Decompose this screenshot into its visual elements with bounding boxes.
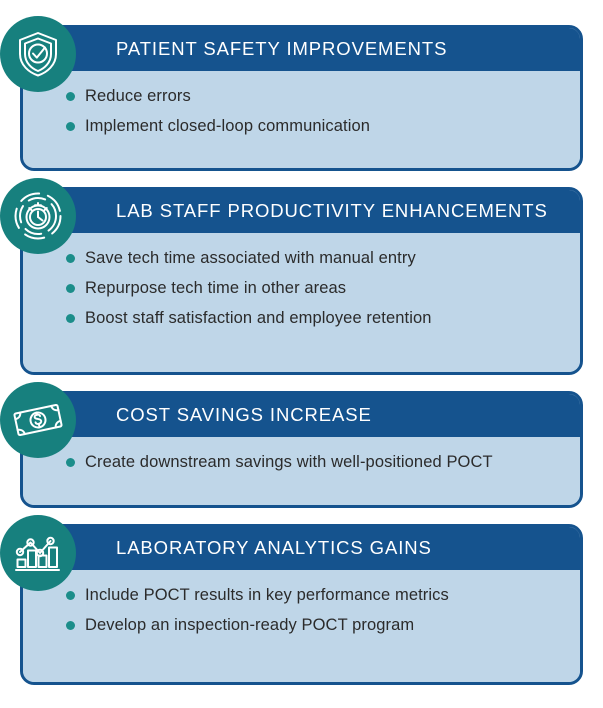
bullet-text: Develop an inspection-ready POCT program xyxy=(85,614,414,636)
card-laboratory-analytics-gains: LABORATORY ANALYTICS GAINS Include POCT … xyxy=(20,524,583,685)
card-title: LAB STAFF PRODUCTIVITY ENHANCEMENTS xyxy=(23,202,548,221)
card-title: LABORATORY ANALYTICS GAINS xyxy=(23,539,432,558)
list-item: Include POCT results in key performance … xyxy=(66,584,580,609)
bullet-text: Repurpose tech time in other areas xyxy=(85,277,346,299)
list-item: Create downstream savings with well-posi… xyxy=(66,451,580,476)
card-body: Reduce errors Implement closed-loop comm… xyxy=(23,71,580,168)
bullet-dot-icon xyxy=(66,591,75,600)
infographic-board: PATIENT SAFETY IMPROVEMENTS Reduce error… xyxy=(0,0,603,708)
list-item: Boost staff satisfaction and employee re… xyxy=(66,307,580,332)
card-header: COST SAVINGS INCREASE xyxy=(23,394,580,437)
card-cost-savings-increase: COST SAVINGS INCREASE Create downstream … xyxy=(20,391,583,508)
list-item: Implement closed-loop communication xyxy=(66,115,580,140)
card-body: Save tech time associated with manual en… xyxy=(23,233,580,372)
card-patient-safety-improvements: PATIENT SAFETY IMPROVEMENTS Reduce error… xyxy=(20,25,583,171)
list-item: Develop an inspection-ready POCT program xyxy=(66,614,580,639)
bullet-text: Include POCT results in key performance … xyxy=(85,584,449,606)
card-lab-staff-productivity-enhancements: LAB STAFF PRODUCTIVITY ENHANCEMENTS Save… xyxy=(20,187,583,375)
card-title: PATIENT SAFETY IMPROVEMENTS xyxy=(23,40,447,59)
bullet-dot-icon xyxy=(66,254,75,263)
bullet-dot-icon xyxy=(66,458,75,467)
banknote-dollar-icon xyxy=(0,382,76,458)
list-item: Repurpose tech time in other areas xyxy=(66,277,580,302)
shield-check-icon xyxy=(0,16,76,92)
bullet-text: Reduce errors xyxy=(85,85,191,107)
bullet-dot-icon xyxy=(66,314,75,323)
card-header: LABORATORY ANALYTICS GAINS xyxy=(23,527,580,570)
card-body: Include POCT results in key performance … xyxy=(23,570,580,682)
card-header: PATIENT SAFETY IMPROVEMENTS xyxy=(23,28,580,71)
bullet-text: Boost staff satisfaction and employee re… xyxy=(85,307,432,329)
card-header: LAB STAFF PRODUCTIVITY ENHANCEMENTS xyxy=(23,190,580,233)
bullet-text: Create downstream savings with well-posi… xyxy=(85,451,493,473)
list-item: Reduce errors xyxy=(66,85,580,110)
bullet-dot-icon xyxy=(66,122,75,131)
stopwatch-icon xyxy=(0,178,76,254)
list-item: Save tech time associated with manual en… xyxy=(66,247,580,272)
bar-chart-line-icon xyxy=(0,515,76,591)
bullet-dot-icon xyxy=(66,284,75,293)
card-body: Create downstream savings with well-posi… xyxy=(23,437,580,505)
bullet-text: Implement closed-loop communication xyxy=(85,115,370,137)
bullet-dot-icon xyxy=(66,621,75,630)
bullet-dot-icon xyxy=(66,92,75,101)
bullet-text: Save tech time associated with manual en… xyxy=(85,247,416,269)
